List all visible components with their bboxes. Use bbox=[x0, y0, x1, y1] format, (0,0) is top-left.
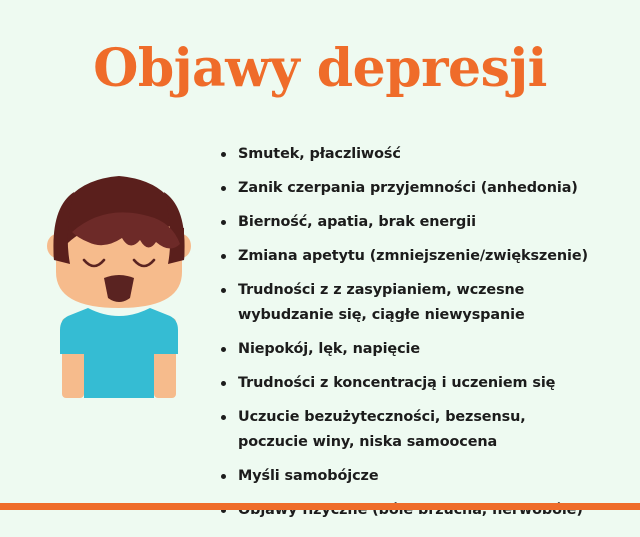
symptom-text-line1: Zmiana apetytu (zmniejszenie/zwiększenie… bbox=[238, 248, 588, 264]
list-item: Objawy fizyczne (bóle brzucha, nerwobóle… bbox=[218, 498, 618, 523]
list-item: Smutek, płaczliwość bbox=[218, 142, 618, 167]
page-title: Objawy depresji bbox=[0, 38, 640, 100]
symptom-text-line1: Zanik czerpania przyjemności (anhedonia) bbox=[238, 180, 578, 196]
symptom-text-line1: Uczucie bezużyteczności, bezsensu, bbox=[238, 409, 526, 425]
list-item: Myśli samobójcze bbox=[218, 464, 618, 489]
list-item: Trudności z koncentracją i uczeniem się bbox=[218, 371, 618, 396]
symptom-text-line2: wybudzanie się, ciągłe niewyspanie bbox=[238, 303, 618, 328]
symptom-text-line1: Smutek, płaczliwość bbox=[238, 146, 401, 162]
poster-canvas: Objawy depresji Smute bbox=[0, 0, 640, 537]
list-item: Bierność, apatia, brak energii bbox=[218, 210, 618, 235]
sad-boy-illustration bbox=[44, 168, 194, 398]
symptom-text-line1: Niepokój, lęk, napięcie bbox=[238, 341, 420, 357]
symptom-text-line2: poczucie winy, niska samoocena bbox=[238, 430, 618, 455]
list-item: Niepokój, lęk, napięcie bbox=[218, 337, 618, 362]
list-item: Zmiana apetytu (zmniejszenie/zwiększenie… bbox=[218, 244, 618, 269]
list-item: Zanik czerpania przyjemności (anhedonia) bbox=[218, 176, 618, 201]
list-item: Uczucie bezużyteczności, bezsensu, poczu… bbox=[218, 405, 618, 455]
symptom-text-line1: Trudności z z zasypianiem, wczesne bbox=[238, 282, 524, 298]
symptom-text-line1: Trudności z koncentracją i uczeniem się bbox=[238, 375, 555, 391]
symptom-text-line1: Myśli samobójcze bbox=[238, 468, 379, 484]
bottom-accent-rule bbox=[0, 503, 640, 510]
symptom-text-line1: Bierność, apatia, brak energii bbox=[238, 214, 476, 230]
symptom-list: Smutek, płaczliwość Zanik czerpania przy… bbox=[218, 142, 618, 532]
list-item: Trudności z z zasypianiem, wczesne wybud… bbox=[218, 278, 618, 328]
mouth-shape bbox=[104, 275, 134, 302]
